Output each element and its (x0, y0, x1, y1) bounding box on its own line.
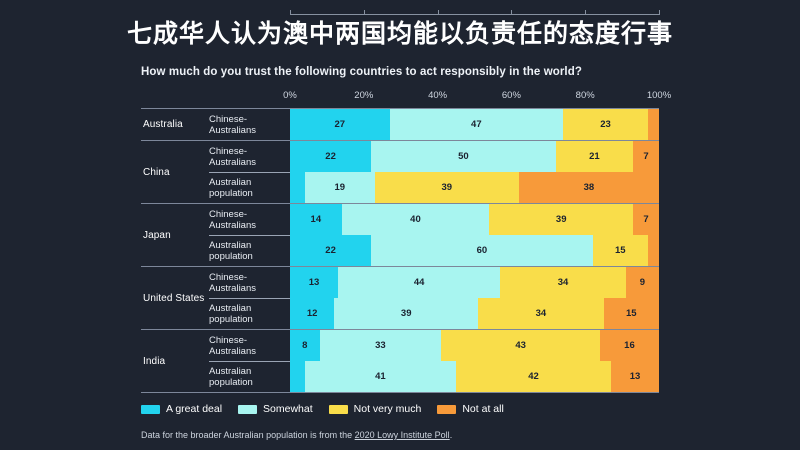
chart-row: Chinese-Australians8334316 (209, 330, 659, 361)
group-rows: Chinese-Australians274723 (209, 109, 659, 140)
legend-label: A great deal (166, 403, 222, 415)
chart-legend: A great dealSomewhatNot very muchNot at … (141, 403, 504, 415)
chart-subtitle: How much do you trust the following coun… (141, 66, 582, 78)
legend-swatch-icon (329, 405, 348, 414)
bar-segment: 22 (290, 235, 371, 266)
row-label-line1: Chinese- (209, 114, 284, 125)
bar-segment: 13 (611, 361, 659, 392)
row-label: Australianpopulation (209, 298, 290, 329)
bar-segment: 34 (478, 298, 603, 329)
legend-item[interactable]: A great deal (141, 403, 222, 415)
row-label-line1: Australian (209, 240, 284, 251)
group-rows: Chinese-Australians2250217Australianpopu… (209, 141, 659, 203)
x-axis-tick-label: 80% (576, 90, 595, 101)
legend-item[interactable]: Somewhat (238, 403, 313, 415)
bar-segment: 27 (290, 109, 390, 140)
bar-segment: 39 (334, 298, 478, 329)
row-label-line1: Australian (209, 366, 284, 377)
row-label-line2: Australians (209, 220, 284, 231)
chart-row: Chinese-Australians2250217 (209, 141, 659, 172)
chart-group: JapanChinese-Australians1440397Australia… (141, 203, 659, 266)
chart-group: ChinaChinese-Australians2250217Australia… (141, 140, 659, 203)
stacked-bar: 1344349 (290, 267, 659, 298)
bar-segment (648, 235, 659, 266)
bar-segment: 43 (441, 330, 600, 361)
bar-segment: 33 (320, 330, 442, 361)
chart-page: 七成华人认为澳中两国均能以负责任的态度行事 How much do you tr… (0, 0, 800, 450)
bar-segment: 13 (290, 267, 338, 298)
group-rows: Chinese-Australians8334316Australianpopu… (209, 330, 659, 392)
legend-label: Not at all (462, 403, 503, 415)
stacked-bar: 193938 (290, 172, 659, 203)
stacked-bar: 274723 (290, 109, 659, 140)
bar-segment: 41 (305, 361, 456, 392)
country-label: United States (141, 267, 209, 329)
bar-segment: 44 (338, 267, 500, 298)
bar-segment: 34 (500, 267, 625, 298)
row-label-line1: Chinese- (209, 146, 284, 157)
x-axis-tick-mark (659, 10, 660, 15)
bar-segment (648, 109, 659, 140)
chart-row: Australianpopulation193938 (209, 172, 659, 203)
chart-group-inner: AustraliaChinese-Australians274723 (141, 109, 659, 140)
stacked-bar: 2250217 (290, 141, 659, 172)
bar-segment: 42 (456, 361, 611, 392)
bar-segment: 7 (633, 204, 659, 235)
bar-segment: 38 (519, 172, 659, 203)
x-axis-tick-label: 100% (647, 90, 671, 101)
row-label-line2: population (209, 251, 284, 262)
row-label-line1: Chinese- (209, 209, 284, 220)
bar-segment: 47 (390, 109, 563, 140)
x-axis-tick-label: 0% (283, 90, 297, 101)
legend-item[interactable]: Not very much (329, 403, 422, 415)
x-axis-tick-mark (364, 10, 365, 15)
row-label-line1: Chinese- (209, 272, 284, 283)
stacked-bar: 226015 (290, 235, 659, 266)
x-axis-line (290, 14, 659, 15)
x-axis-tick-label: 20% (354, 90, 373, 101)
bar-segment: 21 (556, 141, 633, 172)
x-axis-tick-label: 60% (502, 90, 521, 101)
row-label-line1: Australian (209, 177, 284, 188)
country-label: India (141, 330, 209, 392)
row-label: Australianpopulation (209, 235, 290, 266)
bar-segment: 40 (342, 204, 490, 235)
chart-row: Chinese-Australians1440397 (209, 204, 659, 235)
chart-group: United StatesChinese-Australians1344349A… (141, 266, 659, 329)
bar-segment: 8 (290, 330, 320, 361)
chart-group: IndiaChinese-Australians8334316Australia… (141, 329, 659, 393)
bar-segment: 9 (626, 267, 659, 298)
legend-label: Not very much (354, 403, 422, 415)
x-axis-tick-mark (438, 10, 439, 15)
country-label: Japan (141, 204, 209, 266)
bar-segment: 22 (290, 141, 371, 172)
x-axis-tick-mark (585, 10, 586, 15)
stacked-bar: 8334316 (290, 330, 659, 361)
row-label: Chinese-Australians (209, 109, 290, 140)
row-label: Australianpopulation (209, 361, 290, 392)
row-label-line1: Australian (209, 303, 284, 314)
chart-row: Chinese-Australians1344349 (209, 267, 659, 298)
x-axis-ticks: 0%20%40%60%80%100% (290, 90, 659, 108)
bar-segment: 39 (375, 172, 519, 203)
row-label-line2: population (209, 188, 284, 199)
row-label-line2: Australians (209, 283, 284, 294)
stacked-bar: 414213 (290, 361, 659, 392)
bar-segment (290, 361, 305, 392)
bar-segment: 60 (371, 235, 592, 266)
bar-segment: 50 (371, 141, 556, 172)
row-label-line2: population (209, 314, 284, 325)
legend-swatch-icon (437, 405, 456, 414)
chart-row: Chinese-Australians274723 (209, 109, 659, 140)
row-label: Chinese-Australians (209, 267, 290, 298)
footnote-suffix: . (450, 430, 453, 440)
footnote-link[interactable]: 2020 Lowy Institute Poll (355, 430, 450, 440)
chart-group-inner: JapanChinese-Australians1440397Australia… (141, 204, 659, 266)
bar-segment: 19 (305, 172, 375, 203)
bar-segment: 14 (290, 204, 342, 235)
legend-swatch-icon (141, 405, 160, 414)
group-rows: Chinese-Australians1344349Australianpopu… (209, 267, 659, 329)
footnote: Data for the broader Australian populati… (141, 430, 452, 440)
bar-segment (290, 172, 305, 203)
country-label: Australia (141, 109, 209, 140)
bar-segment: 23 (563, 109, 648, 140)
chart-group-inner: United StatesChinese-Australians1344349A… (141, 267, 659, 329)
legend-swatch-icon (238, 405, 257, 414)
row-label-line1: Chinese- (209, 335, 284, 346)
bar-segment: 15 (593, 235, 648, 266)
legend-label: Somewhat (263, 403, 313, 415)
row-label: Chinese-Australians (209, 330, 290, 361)
x-axis-tick-mark (290, 10, 291, 15)
group-rows: Chinese-Australians1440397Australianpopu… (209, 204, 659, 266)
row-label-line2: Australians (209, 157, 284, 168)
chart-row: Australianpopulation226015 (209, 235, 659, 266)
row-label: Australianpopulation (209, 172, 290, 203)
bar-segment: 12 (290, 298, 334, 329)
row-label-line2: population (209, 377, 284, 388)
bar-segment: 7 (633, 141, 659, 172)
row-label: Chinese-Australians (209, 141, 290, 172)
bar-segment: 39 (489, 204, 633, 235)
chart-group-inner: IndiaChinese-Australians8334316Australia… (141, 330, 659, 392)
x-axis-tick-mark (511, 10, 512, 15)
legend-item[interactable]: Not at all (437, 403, 503, 415)
stacked-bar: 1440397 (290, 204, 659, 235)
footnote-prefix: Data for the broader Australian populati… (141, 430, 355, 440)
x-axis-tick-label: 40% (428, 90, 447, 101)
chart-group: AustraliaChinese-Australians274723 (141, 108, 659, 140)
chart-row: Australianpopulation414213 (209, 361, 659, 392)
page-title: 七成华人认为澳中两国均能以负责任的态度行事 (0, 14, 800, 50)
bar-segment: 16 (600, 330, 659, 361)
country-label: China (141, 141, 209, 203)
row-label: Chinese-Australians (209, 204, 290, 235)
chart-group-inner: ChinaChinese-Australians2250217Australia… (141, 141, 659, 203)
chart-row: Australianpopulation12393415 (209, 298, 659, 329)
chart-body: AustraliaChinese-Australians274723ChinaC… (141, 108, 659, 393)
row-label-line2: Australians (209, 346, 284, 357)
bar-segment: 15 (604, 298, 659, 329)
row-label-line2: Australians (209, 125, 284, 136)
stacked-bar: 12393415 (290, 298, 659, 329)
